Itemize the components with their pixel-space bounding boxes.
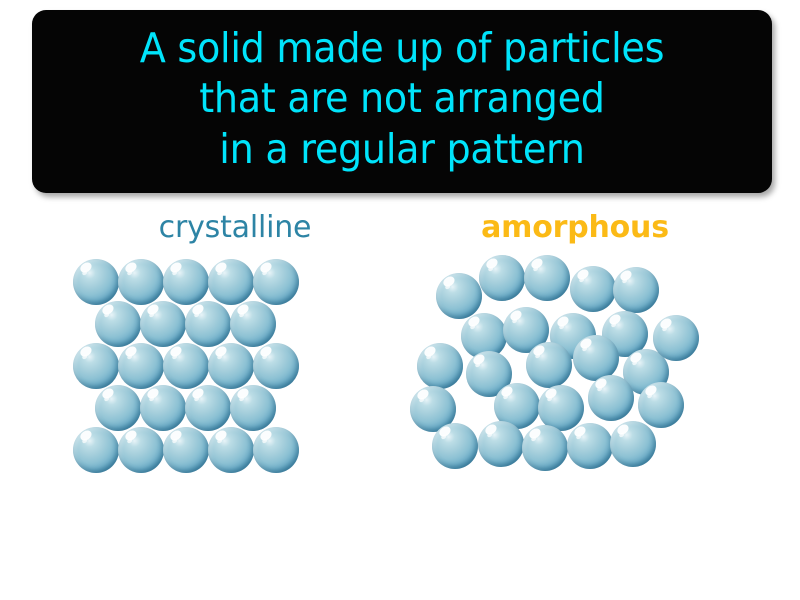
particle-sphere: [208, 259, 254, 305]
particle-sphere: [140, 385, 186, 431]
slide-canvas: A solid made up of particles that are no…: [0, 0, 800, 600]
particle-sphere: [610, 421, 656, 467]
particle-sphere: [417, 343, 463, 389]
particle-sphere: [163, 343, 209, 389]
particle-sphere: [95, 301, 141, 347]
particle-sphere: [432, 423, 478, 469]
panel-label-crystalline: crystalline: [70, 210, 400, 245]
particle-sphere: [526, 342, 572, 388]
definition-banner: A solid made up of particles that are no…: [32, 10, 772, 193]
particle-sphere: [163, 259, 209, 305]
particle-sphere: [588, 375, 634, 421]
particle-sphere: [208, 427, 254, 473]
particle-sphere: [524, 255, 570, 301]
particle-sphere: [253, 343, 299, 389]
particle-sphere: [95, 385, 141, 431]
particle-sphere: [118, 427, 164, 473]
particle-sphere: [253, 427, 299, 473]
particle-sphere: [522, 425, 568, 471]
particle-sphere: [653, 315, 699, 361]
particle-sphere: [185, 301, 231, 347]
particle-sphere: [118, 259, 164, 305]
particle-sphere: [118, 343, 164, 389]
diagram-area: crystalline amorphous: [0, 200, 800, 500]
particle-sphere: [230, 301, 276, 347]
definition-text: A solid made up of particles that are no…: [140, 23, 664, 173]
particle-sphere: [73, 427, 119, 473]
particle-sphere: [163, 427, 209, 473]
particle-sphere: [479, 255, 525, 301]
particle-sphere: [208, 343, 254, 389]
particle-sphere: [73, 343, 119, 389]
particle-sphere: [570, 266, 616, 312]
particle-field-crystalline: [70, 255, 400, 485]
particle-sphere: [567, 423, 613, 469]
particle-sphere: [73, 259, 119, 305]
particle-sphere: [140, 301, 186, 347]
panel-amorphous: amorphous: [410, 200, 740, 500]
particle-field-amorphous: [410, 255, 740, 485]
panel-label-amorphous: amorphous: [410, 210, 740, 245]
particle-sphere: [436, 273, 482, 319]
particle-sphere: [253, 259, 299, 305]
particle-sphere: [230, 385, 276, 431]
panel-crystalline: crystalline: [70, 200, 400, 500]
particle-sphere: [478, 421, 524, 467]
particle-sphere: [638, 382, 684, 428]
particle-sphere: [185, 385, 231, 431]
particle-sphere: [613, 267, 659, 313]
